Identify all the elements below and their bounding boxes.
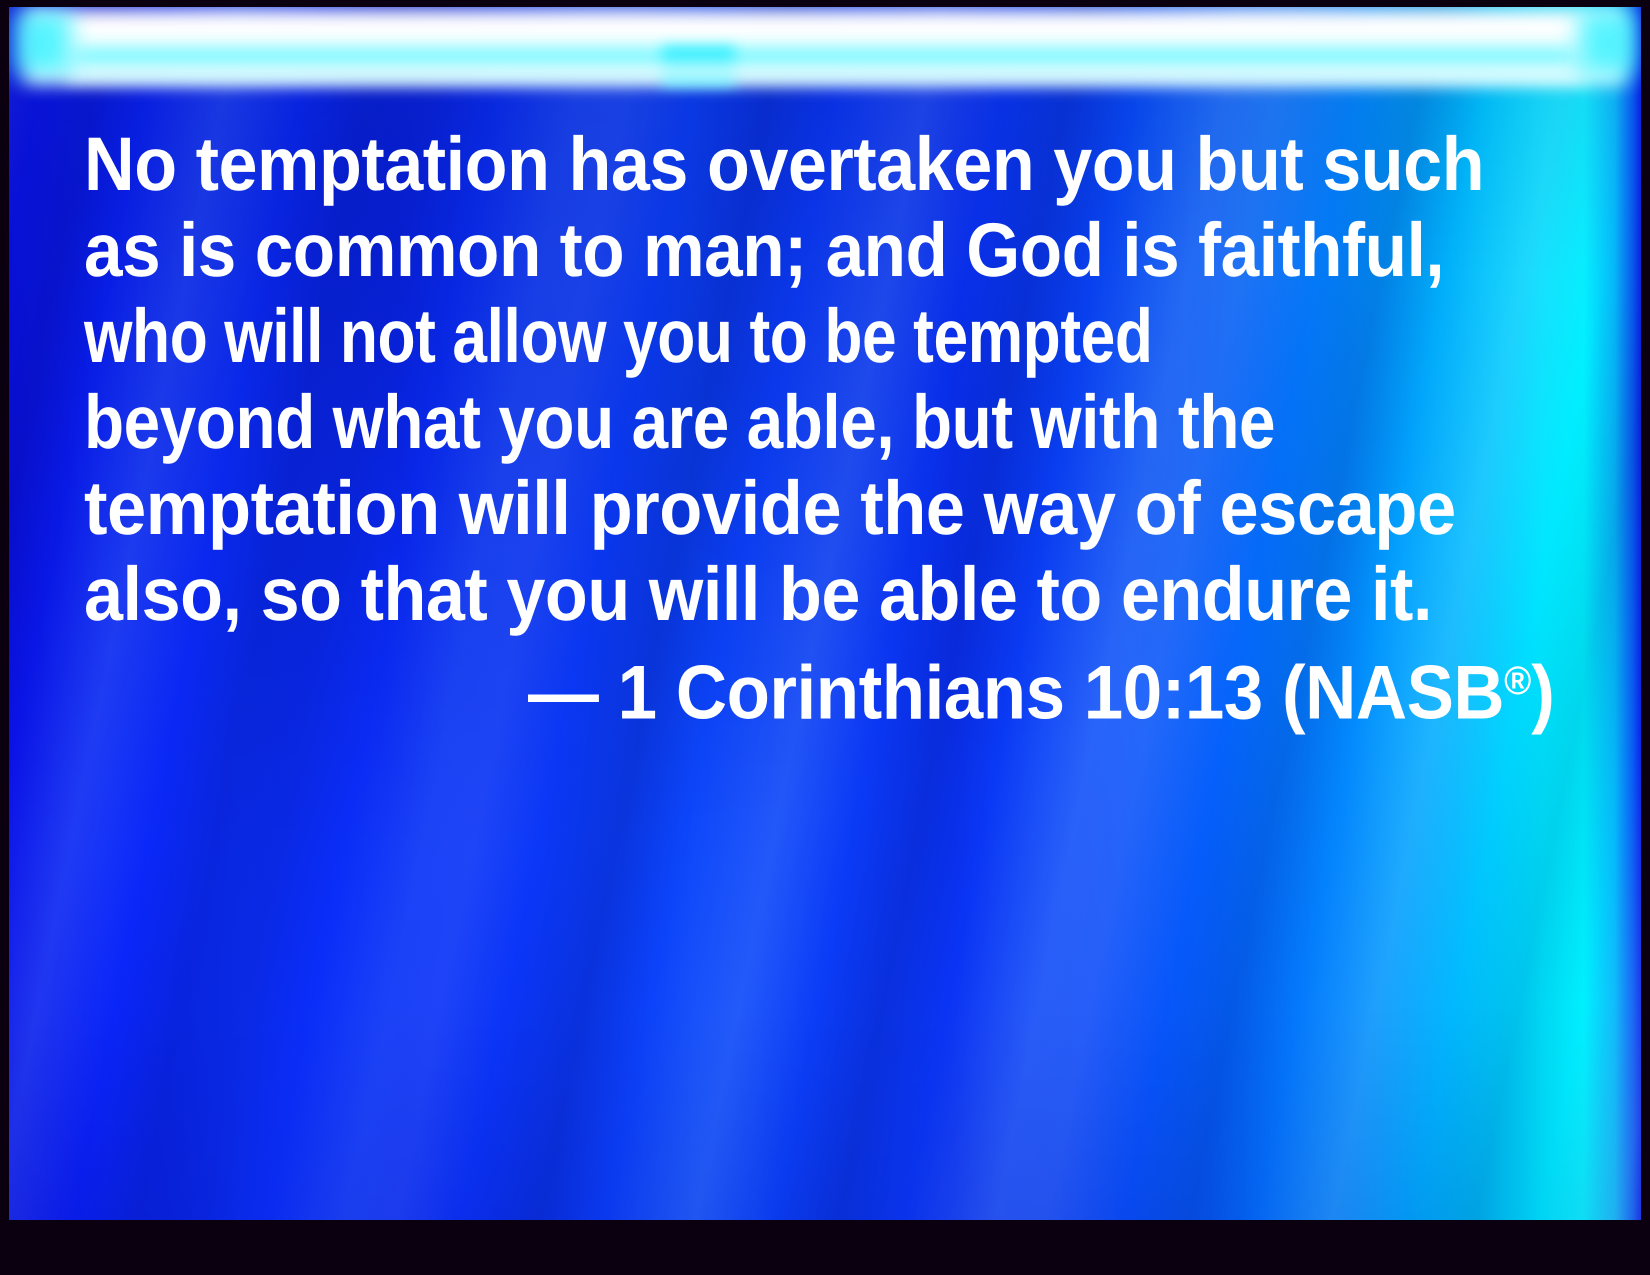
verse-reference-prefix: — 1 Corinthians 10:13 (NASB: [528, 651, 1504, 736]
registered-trademark-icon: ®: [1504, 659, 1531, 703]
verse-line: also, so that you will be able to endure…: [84, 552, 1441, 638]
verse-line: as is common to man; and God is faithful…: [84, 208, 1425, 294]
verse-line: No temptation has overtaken you but such: [84, 122, 1441, 208]
verse-line: who will not allow you to be tempted: [84, 294, 1289, 380]
verse-line: temptation will provide the way of escap…: [84, 466, 1448, 552]
verse-slide: No temptation has overtaken you but such…: [0, 0, 1650, 1275]
verse-reference-suffix: ): [1531, 651, 1554, 736]
verse-line: beyond what you are able, but with the: [84, 380, 1354, 466]
verse-reference: — 1 Corinthians 10:13 (NASB®): [84, 638, 1554, 737]
